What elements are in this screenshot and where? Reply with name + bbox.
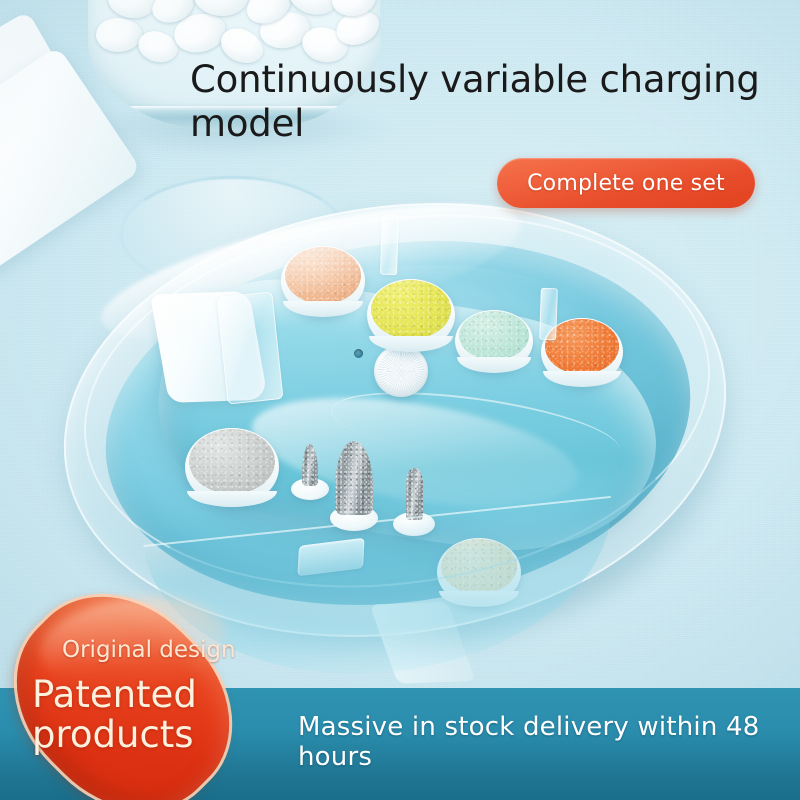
complete-set-badge-label: Complete one set (527, 171, 725, 196)
badge-text-group: Original design Patented products (0, 586, 246, 800)
complete-set-badge[interactable]: Complete one set (497, 158, 755, 208)
headline-line-1: Continuously variable charging (190, 58, 770, 102)
bottom-banner-text: Massive in stock delivery within 48 hour… (298, 712, 800, 772)
promo-image-canvas: Continuously variable charging model Com… (0, 0, 800, 800)
page-title: Continuously variable charging model (190, 58, 770, 145)
badge-title-line-2: products (32, 715, 197, 755)
badge-title-line-1: Patented (32, 675, 197, 715)
headline-line-2: model (190, 102, 770, 146)
badge-title: Patented products (32, 675, 197, 755)
badge-subtitle: Original design (62, 637, 236, 663)
